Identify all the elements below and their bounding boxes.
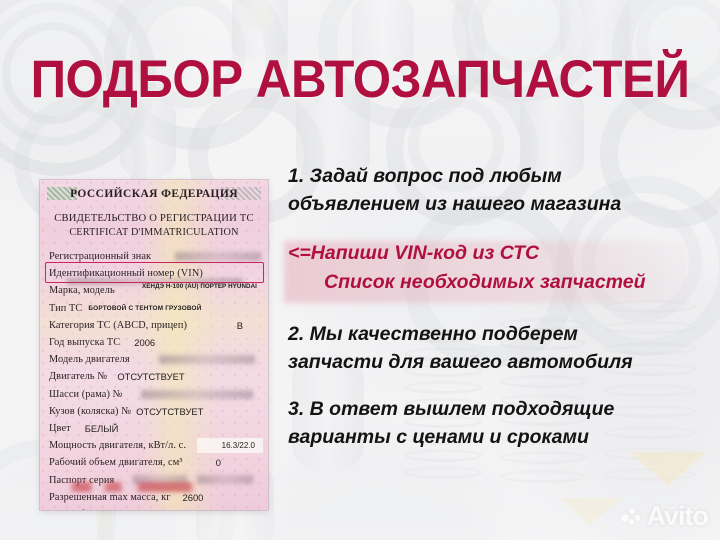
document-stamp-redacted <box>66 482 216 492</box>
step-2: 2. Мы качественно подберем запчасти для … <box>288 321 708 376</box>
avito-wordmark: Avito <box>647 503 709 530</box>
redaction-smudge <box>175 252 261 261</box>
field-label: Год выпуска ТС <box>49 337 120 348</box>
field-label: Мощность двигателя, кВт/л. с. <box>49 440 186 451</box>
avito-watermark: Avito <box>621 503 709 530</box>
field-value: ХЕНДЭ Н-100 (AU) ПОРТЕР HYUNDAI <box>142 283 257 290</box>
field-value: 16.3/22.0 <box>222 441 255 450</box>
field-label: Регистрационный знак <box>49 251 151 262</box>
document-title-fr: CERTIFICAT D'IMMATRICULATION <box>40 227 268 238</box>
step-1-line-2: объявлением из нашего магазина <box>288 191 708 219</box>
field-value: ОТСУТСТВУЕТ <box>117 371 184 382</box>
field-value: ОТСУТСТВУЕТ <box>136 406 203 417</box>
step-2-line-2: запчасти для вашего автомобиля <box>288 349 708 377</box>
step-3-line-2: варианты с ценами и сроками <box>288 424 708 452</box>
avito-dots-icon <box>621 508 643 525</box>
step-1: 1. Задай вопрос под любым объявлением из… <box>288 163 708 218</box>
field-value: 0 <box>216 457 221 468</box>
field-label: Тип ТС <box>49 303 82 314</box>
document-field-row: Год выпуска ТС 2006 <box>49 334 261 351</box>
vin-callout-line-2: Список необходимых запчастей <box>288 268 708 297</box>
document-country-header: РОССИЙСКАЯ ФЕДЕРАЦИЯ <box>40 188 268 200</box>
field-label: Двигатель № <box>49 371 107 382</box>
field-label: Марка, модель <box>49 285 115 296</box>
document-field-row: Шасси (рама) № <box>49 386 261 403</box>
document-field-row-vin: Идентификационный номер (VIN) <box>49 265 261 282</box>
document-field-row: Рабочий объем двигателя, см³ 0 <box>49 454 261 471</box>
vin-callout: <=Напиши VIN-код из СТС Список необходим… <box>288 239 708 297</box>
document-field-row: Категория ТС (ABCD, прицеп) B <box>49 317 261 334</box>
vin-callout-line-1: <=Напиши VIN-код из СТС <box>288 239 708 268</box>
step-3: 3. В ответ вышлем подходящие варианты с … <box>288 396 708 451</box>
vehicle-registration-certificate-image: РОССИЙСКАЯ ФЕДЕРАЦИЯ СВИДЕТЕЛЬСТВО О РЕГ… <box>40 180 268 510</box>
document-title-ru: СВИДЕТЕЛЬСТВО О РЕГИСТРАЦИИ ТС <box>40 213 268 224</box>
instruction-steps: 1. Задай вопрос под любым объявлением из… <box>288 163 708 451</box>
field-label: Кузов (коляска) № <box>49 406 131 417</box>
field-label: Масса без нагрузки, кг <box>49 509 151 510</box>
step-1-line-1: 1. Задай вопрос под любым <box>288 163 708 191</box>
document-field-row: Марка, модель ХЕНДЭ Н-100 (AU) ПОРТЕР HY… <box>49 282 261 299</box>
document-field-row: Тип ТС БОРТОВОЙ С ТЕНТОМ ГРУЗОВОЙ <box>49 300 261 317</box>
document-field-list: Регистрационный знак Идентификационный н… <box>49 248 261 510</box>
field-label: Модель двигателя <box>49 354 130 365</box>
page-title: ПОДБОР АВТОЗАПЧАСТЕЙ <box>25 47 695 113</box>
step-3-line-1: 3. В ответ вышлем подходящие <box>288 396 708 424</box>
document-field-row: Регистрационный знак <box>49 248 261 265</box>
step-2-line-1: 2. Мы качественно подберем <box>288 321 708 349</box>
field-value: B <box>237 320 243 331</box>
redaction-smudge <box>141 390 253 399</box>
field-label: Цвет <box>49 423 71 434</box>
document-field-row: Модель двигателя <box>49 351 261 368</box>
field-value: 2006 <box>134 337 155 348</box>
field-label: Рабочий объем двигателя, см³ <box>49 457 183 468</box>
field-value: БЕЛЫЙ <box>85 423 119 434</box>
field-value: БОРТОВОЙ С ТЕНТОМ ГРУЗОВОЙ <box>88 305 201 312</box>
field-value: 2600 <box>183 492 204 503</box>
field-label: Разрешенная max масса, кг <box>49 492 171 503</box>
document-field-row: Мощность двигателя, кВт/л. с. 16.3/22.0 <box>49 437 261 454</box>
field-label: Шасси (рама) № <box>49 389 123 400</box>
document-field-row: Масса без нагрузки, кг 1895 <box>49 506 261 510</box>
document-field-row: Кузов (коляска) № ОТСУТСТВУЕТ <box>49 403 261 420</box>
document-field-row: Двигатель № ОТСУТСТВУЕТ <box>49 368 261 385</box>
field-value: 1895 <box>163 509 184 510</box>
document-field-row: Цвет БЕЛЫЙ <box>49 420 261 437</box>
redaction-smudge <box>159 355 255 364</box>
field-label: Категория ТС (ABCD, прицеп) <box>49 320 187 331</box>
